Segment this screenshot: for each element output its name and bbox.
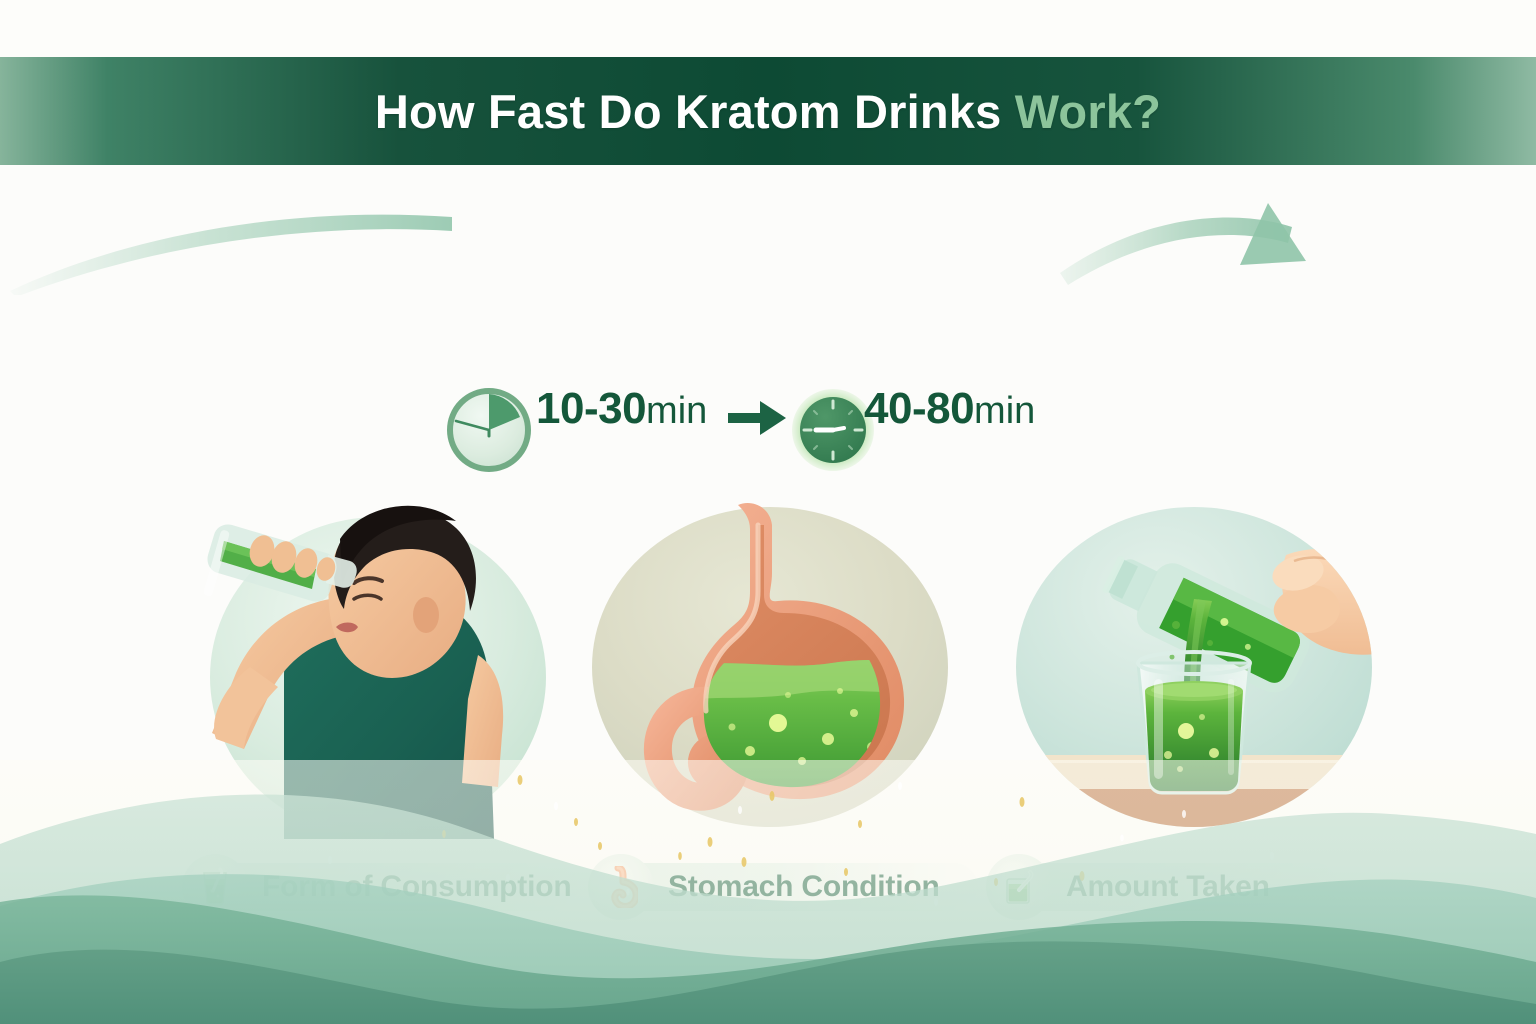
peak-time-unit: min — [974, 390, 1035, 432]
onset-clock-wrapper — [446, 387, 532, 478]
peak-time-label: 40-80min — [864, 387, 1035, 431]
clock-pie-icon — [446, 387, 532, 473]
left-sweep-arrow — [10, 215, 452, 295]
onset-time-value: 10-30 — [536, 384, 646, 433]
top-margin-strip — [0, 0, 1536, 57]
page-title-main: How Fast Do Kratom Drinks — [375, 85, 1015, 138]
infographic-root: How Fast Do Kratom Drinks Work? — [0, 0, 1536, 1024]
page-title: How Fast Do Kratom Drinks Work? — [375, 88, 1161, 135]
onset-time-unit: min — [646, 390, 707, 432]
decorative-waves — [0, 760, 1536, 1024]
flow-arrows-group — [0, 165, 1536, 295]
arrow-right-icon — [726, 397, 788, 439]
page-title-accent: Work? — [1015, 85, 1161, 138]
onset-time-label: 10-30min — [536, 387, 707, 431]
peak-time-value: 40-80 — [864, 384, 974, 433]
header-banner: How Fast Do Kratom Drinks Work? — [0, 57, 1536, 165]
